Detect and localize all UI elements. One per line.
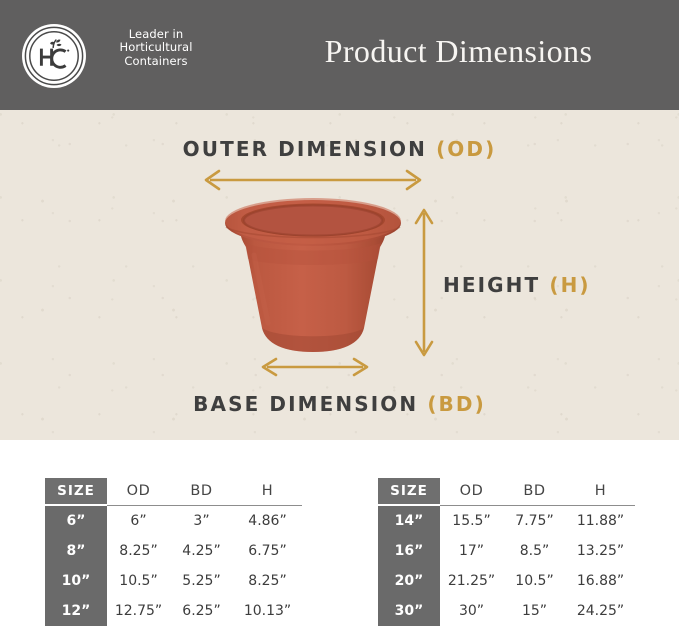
height-dimension-label: HEIGHT (H) (443, 273, 591, 297)
height-dimension-tag: (H) (549, 273, 590, 297)
cell-size: 14” (378, 506, 440, 536)
outer-dimension-label: OUTER DIMENSION (OD) (0, 137, 679, 161)
column-header-od: OD (107, 478, 170, 504)
cell-od: 15.5” (440, 506, 503, 536)
cell-h: 4.86” (233, 506, 302, 536)
outer-dimension-tag: (OD) (436, 137, 496, 161)
height-dimension-arrow-icon (412, 205, 436, 365)
cell-bd: 5.25” (170, 566, 233, 596)
outer-dimension-arrow-icon (200, 168, 426, 197)
cell-bd: 3” (170, 506, 233, 536)
column-header-bd: BD (170, 478, 233, 504)
outer-dimension-text: OUTER DIMENSION (183, 137, 427, 161)
base-dimension-text: BASE DIMENSION (193, 392, 418, 416)
column-header-h: H (566, 478, 635, 504)
column-header-od: OD (440, 478, 503, 504)
cell-od: 12.75” (107, 596, 170, 626)
table-header-row: SIZE OD BD H (378, 478, 635, 504)
cell-size: 20” (378, 566, 440, 596)
cell-h: 10.13” (233, 596, 302, 626)
cell-od: 21.25” (440, 566, 503, 596)
product-dimensions-infographic: Leader in Horticultural Containers Produ… (0, 0, 679, 636)
cell-h: 11.88” (566, 506, 635, 536)
cell-size: 6” (45, 506, 107, 536)
cell-h: 16.88” (566, 566, 635, 596)
table-header-row: SIZE OD BD H (45, 478, 302, 504)
cell-bd: 15” (503, 596, 566, 626)
cell-size: 16” (378, 536, 440, 566)
base-dimension-arrow-icon (258, 356, 372, 383)
table-row: 30” 30” 15” 24.25” (378, 596, 635, 626)
dimensions-table-large-sizes: SIZE OD BD H 14” 15.5” 7.75” 11.88” 16” … (378, 478, 635, 626)
page-title: Product Dimensions (0, 32, 679, 70)
cell-h: 8.25” (233, 566, 302, 596)
table-row: 6” 6” 3” 4.86” (45, 506, 302, 536)
column-header-size: SIZE (45, 478, 107, 504)
column-header-bd: BD (503, 478, 566, 504)
height-dimension-text: HEIGHT (443, 273, 540, 297)
cell-bd: 6.25” (170, 596, 233, 626)
cell-h: 24.25” (566, 596, 635, 626)
header-bar: Leader in Horticultural Containers Produ… (0, 0, 679, 110)
dimensions-table-small-sizes: SIZE OD BD H 6” 6” 3” 4.86” 8” 8.25” 4.2… (45, 478, 302, 626)
cell-size: 30” (378, 596, 440, 626)
cell-size: 12” (45, 596, 107, 626)
cell-od: 17” (440, 536, 503, 566)
cell-size: 10” (45, 566, 107, 596)
table-row: 10” 10.5” 5.25” 8.25” (45, 566, 302, 596)
table-row: 16” 17” 8.5” 13.25” (378, 536, 635, 566)
base-dimension-tag: (BD) (427, 392, 486, 416)
cell-od: 10.5” (107, 566, 170, 596)
cell-od: 6” (107, 506, 170, 536)
cell-od: 8.25” (107, 536, 170, 566)
terracotta-planter-pot-icon (224, 197, 402, 367)
table-row: 12” 12.75” 6.25” 10.13” (45, 596, 302, 626)
table-row: 14” 15.5” 7.75” 11.88” (378, 506, 635, 536)
cell-bd: 8.5” (503, 536, 566, 566)
cell-h: 6.75” (233, 536, 302, 566)
table-row: 20” 21.25” 10.5” 16.88” (378, 566, 635, 596)
cell-bd: 7.75” (503, 506, 566, 536)
cell-bd: 10.5” (503, 566, 566, 596)
cell-bd: 4.25” (170, 536, 233, 566)
cell-od: 30” (440, 596, 503, 626)
column-header-h: H (233, 478, 302, 504)
cell-h: 13.25” (566, 536, 635, 566)
table-row: 8” 8.25” 4.25” 6.75” (45, 536, 302, 566)
cell-size: 8” (45, 536, 107, 566)
base-dimension-label: BASE DIMENSION (BD) (0, 392, 679, 416)
column-header-size: SIZE (378, 478, 440, 504)
